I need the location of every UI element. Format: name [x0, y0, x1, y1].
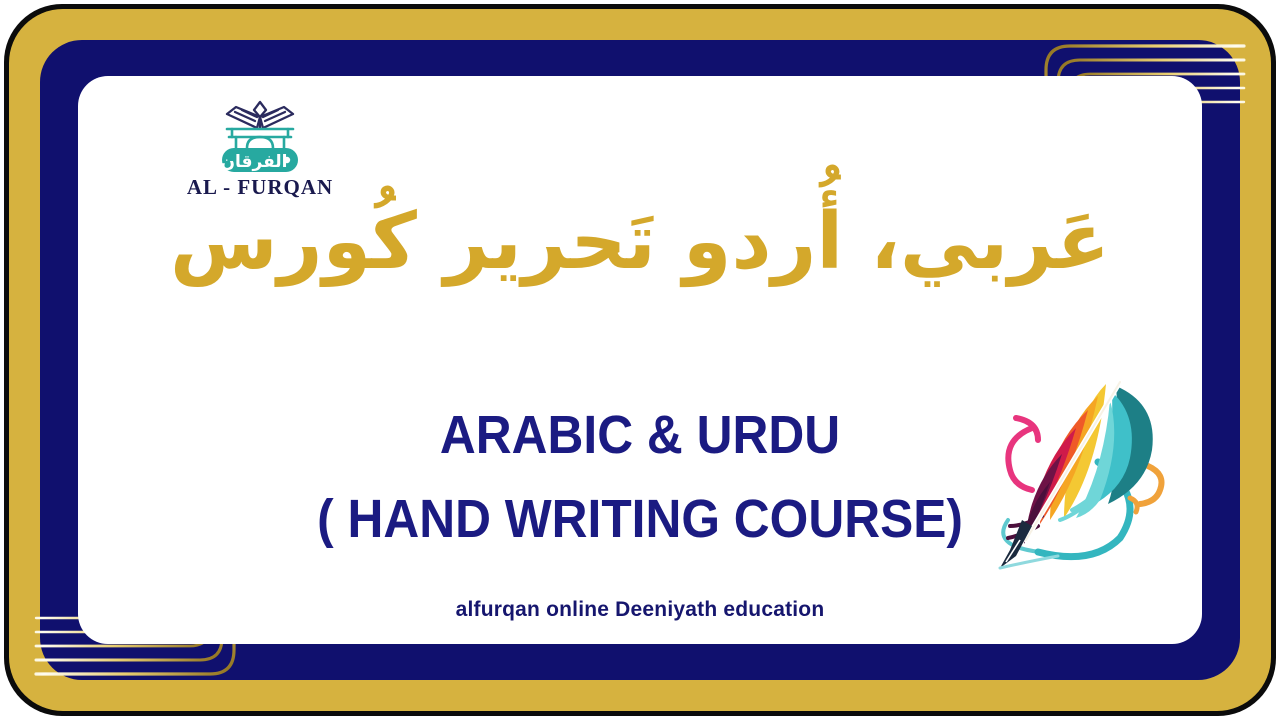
- poster-canvas: الفرقان AL - FURQAN عَربي، أُردو تَحرير …: [0, 0, 1280, 720]
- arabic-headline: عَربي، أُردو تَحرير كُورس: [78, 194, 1202, 292]
- brand-logo: الفرقان AL - FURQAN: [160, 88, 360, 200]
- tagline: alfurqan online Deeniyath education: [78, 598, 1202, 622]
- colorful-quill-pen-icon: [980, 370, 1190, 570]
- svg-text:الفرقان: الفرقان: [220, 152, 287, 172]
- poster-content-area: الفرقان AL - FURQAN عَربي، أُردو تَحرير …: [78, 76, 1202, 644]
- mosque-book-logo-icon: الفرقان: [205, 88, 315, 173]
